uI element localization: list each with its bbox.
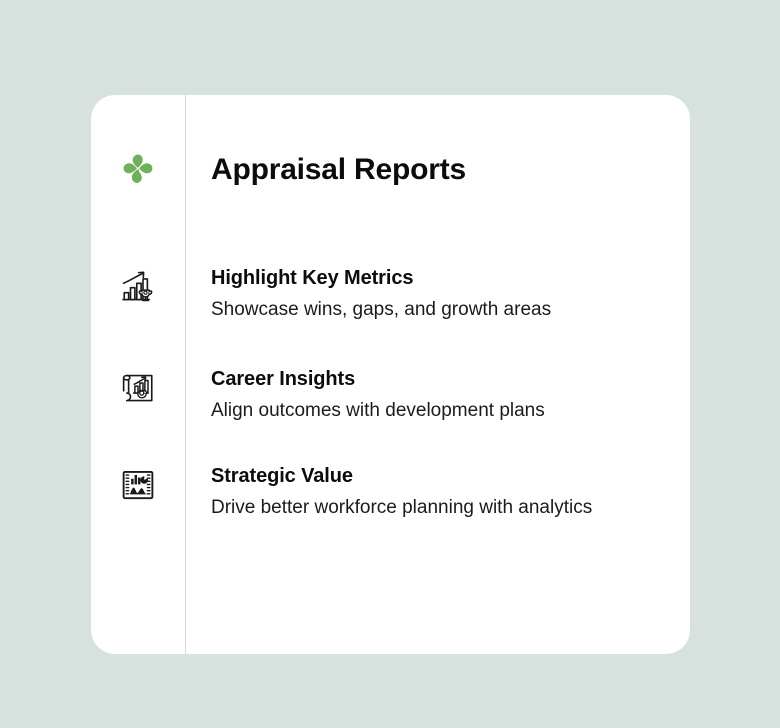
feature-description: Align outcomes with development plans: [211, 395, 631, 426]
four-leaf-clover-icon: [91, 148, 185, 192]
feature-description: Showcase wins, gaps, and growth areas: [211, 294, 631, 325]
feature-item-career-insights: Career Insights Align outcomes with deve…: [211, 366, 680, 426]
feature-title: Highlight Key Metrics: [211, 265, 680, 291]
appraisal-reports-card: Appraisal Reports Highlight Key Metrics …: [91, 95, 690, 654]
feature-title: Career Insights: [211, 366, 680, 392]
analytics-framed-chart-icon: [91, 463, 185, 507]
content-column: Appraisal Reports Highlight Key Metrics …: [186, 95, 690, 654]
feature-description: Drive better workforce planning with ana…: [211, 492, 631, 523]
bar-chart-growth-trophy-icon: [91, 265, 185, 309]
page-title-block: Appraisal Reports: [211, 151, 680, 189]
feature-item-strategic-value: Strategic Value Drive better workforce p…: [211, 463, 680, 523]
blueprint-chart-gear-icon: [91, 366, 185, 410]
icon-rail: [91, 95, 185, 654]
feature-title: Strategic Value: [211, 463, 680, 489]
screen-root: Appraisal Reports Highlight Key Metrics …: [0, 0, 780, 728]
page-title: Appraisal Reports: [211, 151, 680, 189]
feature-item-highlight-key-metrics: Highlight Key Metrics Showcase wins, gap…: [211, 265, 680, 325]
